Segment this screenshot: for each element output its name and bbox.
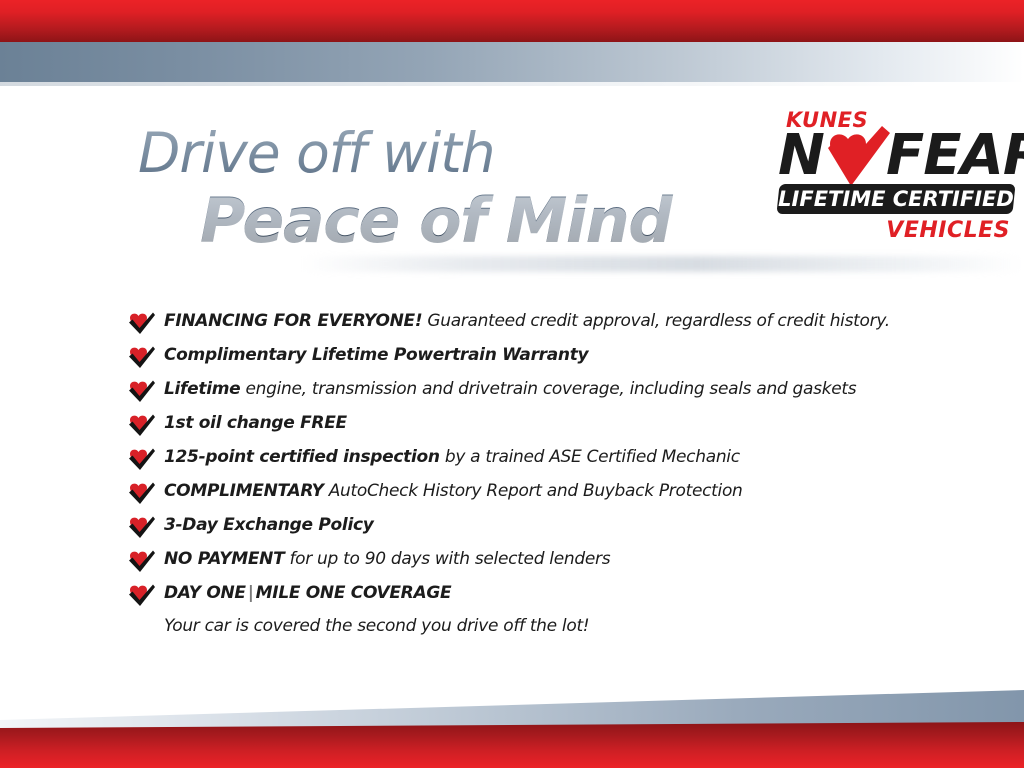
- list-item: 1st oil change FREE: [128, 410, 948, 444]
- heart-check-icon: [128, 379, 156, 403]
- logo-lifetime-bar: LIFETIME CERTIFIED: [776, 184, 1015, 214]
- heart-check-icon: [128, 583, 156, 607]
- list-item-text: NO PAYMENT for up to 90 days with select…: [164, 549, 610, 569]
- list-item-text: Lifetime engine, transmission and drivet…: [164, 379, 856, 399]
- heart-check-icon: [128, 515, 156, 539]
- list-item-rest: engine, transmission and drivetrain cove…: [240, 379, 856, 399]
- bottom-red-band: [0, 722, 1024, 768]
- list-item-rest: by a trained ASE Certified Mechanic: [440, 447, 740, 467]
- logo-lifetime-text: LIFETIME CERTIFIED: [778, 184, 1014, 214]
- headline-line-1: Drive off with: [138, 122, 758, 184]
- list-item-subtext: Your car is covered the second you drive…: [128, 614, 948, 638]
- list-item-text: 3-Day Exchange Policy: [164, 515, 374, 535]
- list-item-text: DAY ONE|MILE ONE COVERAGE: [164, 583, 451, 603]
- list-item: NO PAYMENT for up to 90 days with select…: [128, 546, 948, 580]
- heart-check-icon: [128, 311, 156, 335]
- list-item-bold: DAY ONE: [164, 583, 246, 603]
- list-item-text: 1st oil change FREE: [164, 413, 347, 433]
- top-red-band: [0, 0, 1024, 42]
- logo-letter-n: N: [778, 128, 825, 184]
- list-item: Complimentary Lifetime Powertrain Warran…: [128, 342, 948, 376]
- logo-word-fear: FEAR: [886, 128, 1024, 184]
- heart-check-icon: [128, 345, 156, 369]
- list-item-rest: Guaranteed credit approval, regardless o…: [422, 311, 890, 331]
- list-item: 125-point certified inspection by a trai…: [128, 444, 948, 478]
- list-item-bold: FINANCING FOR EVERYONE!: [164, 311, 422, 331]
- list-item-bold: 3-Day Exchange Policy: [164, 515, 374, 535]
- headline-divider: [300, 256, 1024, 272]
- list-item-text: FINANCING FOR EVERYONE! Guaranteed credi…: [164, 311, 890, 331]
- heart-check-icon: [128, 549, 156, 573]
- list-item-bold-2: MILE ONE COVERAGE: [256, 583, 452, 603]
- headline-line-2: Peace of Mind: [138, 184, 758, 258]
- list-item-bold: Lifetime: [164, 379, 240, 399]
- list-item: COMPLIMENTARY AutoCheck History Report a…: [128, 478, 948, 512]
- list-item-bold: 1st oil change FREE: [164, 413, 347, 433]
- headline: Drive off with Peace of Mind: [138, 122, 758, 258]
- list-item-bold: COMPLIMENTARY: [164, 481, 324, 501]
- logo-footer-text: VEHICLES: [886, 218, 1010, 243]
- heart-check-icon: [128, 447, 156, 471]
- top-gray-band: [0, 42, 1024, 82]
- list-item-rest: for up to 90 days with selected lenders: [284, 549, 610, 569]
- benefits-list: FINANCING FOR EVERYONE! Guaranteed credi…: [128, 308, 948, 638]
- list-item: DAY ONE|MILE ONE COVERAGE: [128, 580, 948, 614]
- list-item: Lifetime engine, transmission and drivet…: [128, 376, 948, 410]
- logo-nofear-wordmark: N FEAR: [776, 128, 1016, 186]
- list-item-bold: 125-point certified inspection: [164, 447, 440, 467]
- list-item: 3-Day Exchange Policy: [128, 512, 948, 546]
- heart-check-icon: [128, 481, 156, 505]
- list-item-rest: AutoCheck History Report and Buyback Pro…: [324, 481, 743, 501]
- list-item-bold: NO PAYMENT: [164, 549, 284, 569]
- list-item-bold: Complimentary Lifetime Powertrain Warran…: [164, 345, 588, 365]
- list-item-separator: |: [246, 583, 256, 603]
- top-band-shadow: [0, 82, 1024, 86]
- list-item: FINANCING FOR EVERYONE! Guaranteed credi…: [128, 308, 948, 342]
- list-item-text: COMPLIMENTARY AutoCheck History Report a…: [164, 481, 743, 501]
- promo-poster: Drive off with Peace of Mind KUNES N FEA…: [0, 0, 1024, 768]
- list-item-text: Complimentary Lifetime Powertrain Warran…: [164, 345, 588, 365]
- heart-check-icon: [128, 413, 156, 437]
- list-item-text: 125-point certified inspection by a trai…: [164, 447, 740, 467]
- kunes-no-fear-logo: KUNES N FEAR LIFETIME CERTIFIED VEHICLES: [776, 108, 1016, 248]
